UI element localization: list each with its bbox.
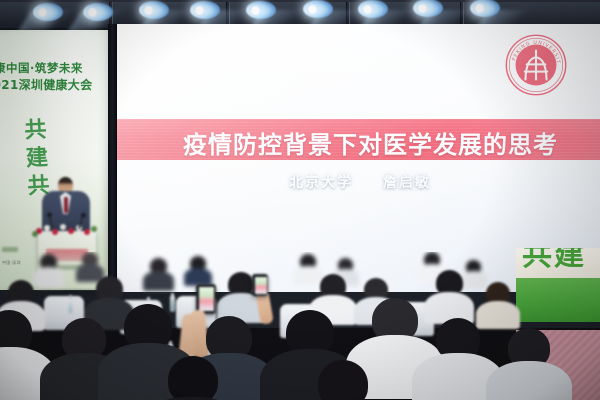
conference-photo: 健康中国·筑梦未来 2021深圳健康大会 共建共 中国·深圳 xyxy=(0,0,600,400)
spotlight-icon xyxy=(83,3,113,21)
podium-flowers xyxy=(32,223,100,239)
banner-subhead: 2021深圳健康大会 xyxy=(0,76,108,93)
speaker-name: 詹启敏 xyxy=(383,175,431,191)
spotlight-icon xyxy=(33,3,63,21)
audience-seating xyxy=(0,252,600,400)
water-bottle xyxy=(68,298,73,314)
banner-headline: 健康中国·筑梦未来 xyxy=(0,60,106,76)
spotlight-icon xyxy=(246,1,276,19)
speaker-affiliation: 北京大学 xyxy=(289,175,353,191)
spotlight-icon xyxy=(358,0,388,18)
spotlight-icon xyxy=(139,1,169,19)
slide-title-band: 疫情防控背景下对医学发展的思考 xyxy=(117,119,600,160)
slide-byline: 北京大学 詹启敏 xyxy=(117,172,600,192)
peking-university-seal-icon: PEKING UNIVERSITY 1898 xyxy=(503,32,569,98)
spotlight-icon xyxy=(303,0,333,18)
smartphone xyxy=(252,274,268,296)
water-bottle xyxy=(170,296,175,312)
spotlight-icon xyxy=(190,1,220,19)
slide-title: 疫情防控背景下对医学发展的思考 xyxy=(183,125,558,160)
